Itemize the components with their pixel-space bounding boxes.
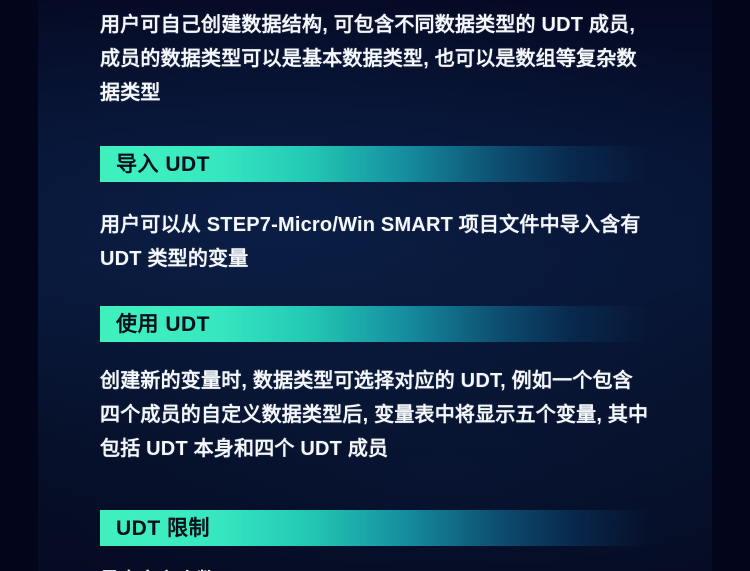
right-margin-strip (712, 0, 750, 571)
spacer (100, 182, 650, 208)
spacer (100, 342, 650, 364)
spacer (100, 466, 650, 510)
import-udt-paragraph: 用户可以从 STEP7-Micro/Win SMART 项目文件中导入含有 UD… (100, 208, 650, 276)
spacer (100, 110, 650, 146)
spacer (100, 546, 650, 564)
heading-bar-use-udt: 使用 UDT (100, 306, 650, 342)
heading-bar-import-udt: 导入 UDT (100, 146, 650, 182)
heading-label-import-udt: 导入 UDT (116, 154, 210, 175)
intro-paragraph: 用户可自己创建数据结构, 可包含不同数据类型的 UDT 成员, 成员的数据类型可… (100, 8, 650, 110)
left-margin-strip (0, 0, 38, 571)
use-udt-paragraph: 创建新的变量时, 数据类型可选择对应的 UDT, 例如一个包含四个成员的自定义数… (100, 364, 650, 466)
content-column: 用户可自己创建数据结构, 可包含不同数据类型的 UDT 成员, 成员的数据类型可… (38, 0, 712, 571)
heading-bar-udt-limits: UDT 限制 (100, 510, 650, 546)
slide-page: 用户可自己创建数据结构, 可包含不同数据类型的 UDT 成员, 成员的数据类型可… (0, 0, 750, 571)
content-inner: 用户可自己创建数据结构, 可包含不同数据类型的 UDT 成员, 成员的数据类型可… (38, 0, 712, 571)
spacer (100, 276, 650, 306)
intro-paragraph-block: 用户可自己创建数据结构, 可包含不同数据类型的 UDT 成员, 成员的数据类型可… (100, 0, 650, 110)
heading-label-udt-limits: UDT 限制 (116, 518, 210, 539)
heading-label-use-udt: 使用 UDT (116, 314, 210, 335)
limit-max-definitions: 最大定义个数：50 (100, 564, 650, 571)
